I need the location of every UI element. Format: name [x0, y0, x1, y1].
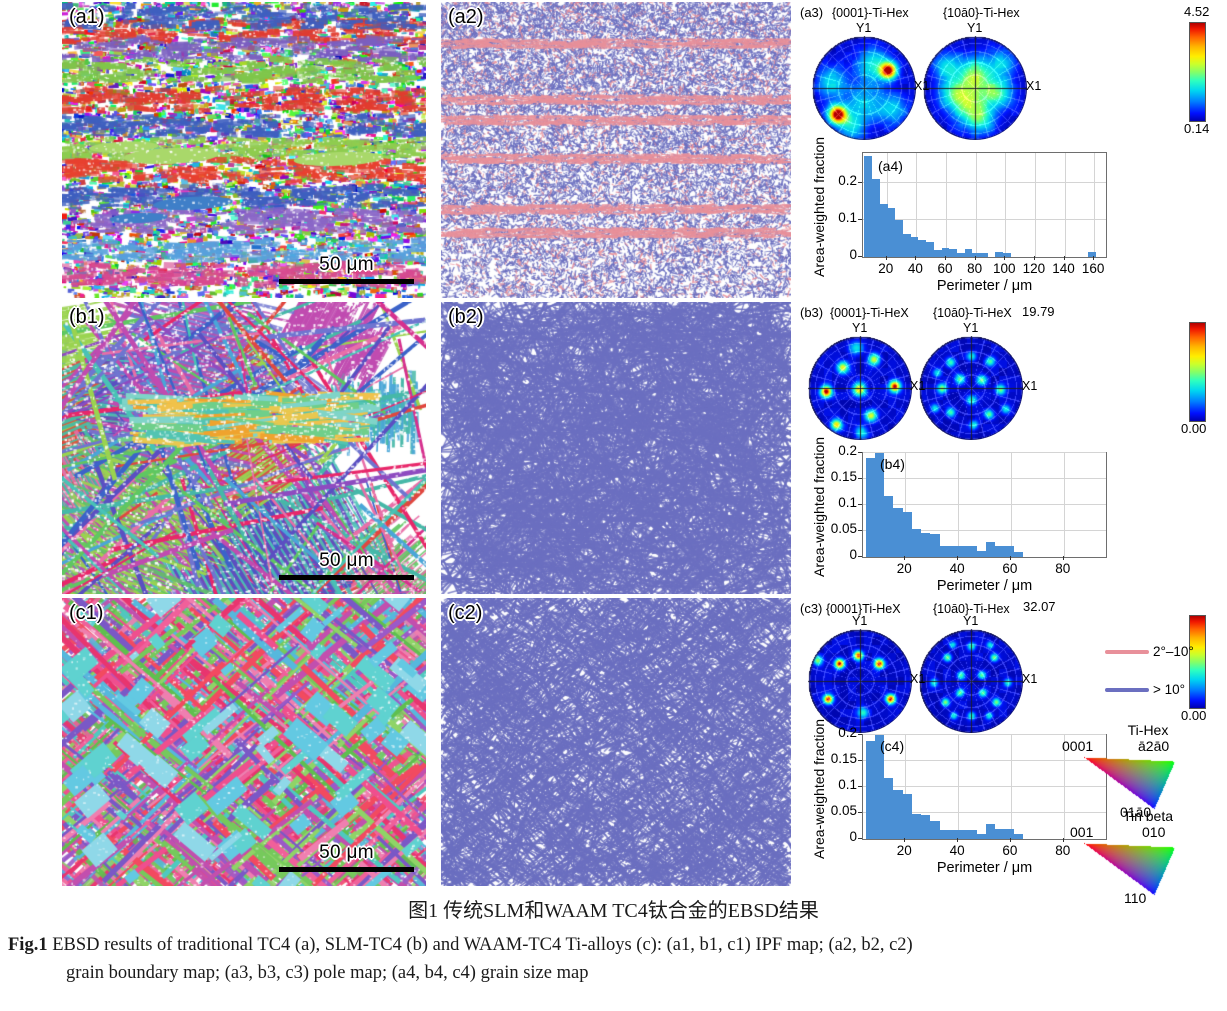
ipf-legend-title-tin-beta: Tin beta — [1068, 808, 1227, 824]
histogram-bar — [880, 204, 888, 257]
pole-title-b3-right: {10ā0}-Ti-HeX — [933, 306, 1012, 320]
y-axis-tick-label: 0.05 — [831, 521, 857, 536]
x-axis-tick-label: 20 — [888, 843, 920, 858]
colorbar-b3 — [1189, 322, 1206, 422]
pole-x-label-c3-right: X1 — [1022, 672, 1037, 686]
x-axis-tick-label: 20 — [870, 261, 902, 276]
scalebar-c1: 50 μm — [279, 842, 414, 872]
scalebar-a1: 50 μm — [279, 254, 414, 284]
gridline-vertical — [1094, 153, 1095, 257]
histogram-bar — [884, 778, 893, 839]
gridline-vertical — [946, 153, 947, 257]
histogram-bar — [903, 234, 911, 257]
hist-a4-id: (a4) — [878, 158, 903, 174]
gridline-vertical — [1065, 153, 1066, 257]
y-axis-tick-label: 0.15 — [831, 469, 857, 484]
gridline-vertical — [976, 153, 977, 257]
histogram-bar — [972, 253, 980, 257]
pole-figure-c3-0001 — [808, 629, 912, 733]
pole-figure-block-b3: (b3) {0001}-Ti-HeX {10ā0}-Ti-HeX Y1 Y1 X… — [800, 302, 1227, 442]
histogram-bar — [888, 208, 896, 257]
x-axis-tick-mark — [1004, 256, 1005, 260]
pole-figure-a3-1010 — [923, 36, 1027, 140]
pole-x-label-a3-left: X1 — [914, 79, 929, 93]
y-axis-tick-label: 0.2 — [838, 725, 857, 740]
pole-y-label-a3-left: Y1 — [856, 21, 871, 35]
panel-label-b1: (b1) — [69, 306, 105, 329]
scalebar-b1: 50 μm — [279, 550, 414, 580]
x-axis-tick-mark — [1093, 256, 1094, 260]
figure-canvas: (a1) 50 μm (a2) (a3) {0001}-Ti-Hex {10ā0… — [0, 0, 1227, 888]
x-axis-tick-label: 40 — [941, 843, 973, 858]
x-axis-tick-mark — [957, 838, 958, 842]
histogram-bar — [903, 794, 912, 839]
histogram-bar — [921, 533, 930, 557]
panel-label-c3: (c3) — [800, 601, 822, 616]
scalebar-line-c1 — [279, 867, 414, 872]
y-axis-tick-mark — [858, 478, 862, 479]
histogram-bar — [957, 253, 965, 257]
pole-figure-c3-1010 — [919, 629, 1023, 733]
y-axis-tick-label: 0.05 — [831, 803, 857, 818]
x-axis-tick-mark — [904, 838, 905, 842]
hist-c4-id: (c4) — [880, 738, 904, 754]
legend-item-low-angle: 2°–10° — [1105, 644, 1194, 659]
y-axis-tick-label: 0.2 — [838, 173, 857, 188]
panel-label-a2: (a2) — [448, 6, 484, 29]
histogram-bar — [958, 830, 967, 839]
y-axis-tick-mark — [858, 734, 862, 735]
histogram-bar — [930, 821, 939, 839]
gridline-vertical — [1011, 735, 1012, 839]
y-axis-tick-label: 0.1 — [838, 495, 857, 510]
pole-x-label-b3-right: X1 — [1022, 379, 1037, 393]
colorbar-min-b3: 0.00 — [1181, 421, 1206, 436]
grain-boundary-map-b2: (b2) — [441, 302, 791, 594]
panel-label-b2: (b2) — [448, 306, 484, 329]
x-axis-tick-mark — [957, 556, 958, 560]
histogram-bar — [866, 458, 875, 557]
legend-line-high-angle — [1105, 688, 1149, 692]
pole-title-a3-right: {10ā0}-Ti-Hex — [943, 6, 1020, 20]
grain-size-histogram-a4: Area-weighted fraction (a4) Perimeter / … — [800, 146, 1227, 298]
x-axis-tick-mark — [1034, 256, 1035, 260]
x-axis-tick-mark — [975, 256, 976, 260]
pole-x-label-b3-left: X1 — [910, 379, 925, 393]
y-axis-tick-label: 0.15 — [831, 751, 857, 766]
caption-english: Fig.1 EBSD results of traditional TC4 (a… — [0, 932, 1227, 988]
hist-b4-xlabel: Perimeter / μm — [862, 578, 1107, 594]
panel-label-a3: (a3) — [800, 5, 823, 20]
x-axis-tick-mark — [904, 556, 905, 560]
x-axis-tick-label: 60 — [929, 261, 961, 276]
panel-label-b3: (b3) — [800, 305, 823, 320]
y-axis-tick-mark — [858, 452, 862, 453]
histogram-bar — [872, 179, 880, 257]
legend-label-low-angle: 2°–10° — [1153, 644, 1194, 659]
ipf-triangle-canvas-ti-hex — [1084, 756, 1180, 810]
pole-figure-b3-0001 — [808, 336, 912, 440]
histogram-bar — [940, 830, 949, 839]
y-axis-tick-mark — [858, 812, 862, 813]
y-axis-tick-label: 0 — [849, 547, 857, 562]
histogram-bar — [864, 156, 872, 257]
histogram-bar — [884, 496, 893, 557]
x-axis-tick-label: 80 — [1047, 561, 1079, 576]
caption-line-2: grain boundary map; (a3, b3, c3) pole ma… — [8, 960, 1219, 988]
histogram-bar — [934, 250, 942, 257]
colorbar-max-c3: 32.07 — [1023, 599, 1056, 614]
scalebar-line-b1 — [279, 575, 414, 580]
x-axis-tick-label: 60 — [994, 843, 1026, 858]
caption-chinese: 图1 传统SLM和WAAM TC4钛合金的EBSD结果 — [0, 894, 1227, 923]
scalebar-label-b1: 50 μm — [279, 550, 414, 572]
y-axis-tick-mark — [858, 530, 862, 531]
colorbar-min-a3: 0.14 — [1184, 121, 1209, 136]
histogram-bar — [903, 512, 912, 557]
x-axis-tick-mark — [945, 256, 946, 260]
x-axis-tick-mark — [1010, 838, 1011, 842]
ipf-corner-1210: ā2ā0 — [1138, 738, 1169, 754]
y-axis-tick-label: 0.1 — [838, 210, 857, 225]
histogram-bar — [965, 249, 973, 257]
pole-y-label-b3-left: Y1 — [852, 321, 867, 335]
y-axis-tick-label: 0.1 — [838, 777, 857, 792]
histogram-bar — [995, 546, 1004, 557]
grain-size-histogram-b4: Area-weighted fraction (b4) Perimeter / … — [800, 446, 1227, 596]
histogram-bar — [866, 741, 875, 839]
histogram-bar — [1014, 834, 1023, 839]
x-axis-tick-label: 60 — [994, 561, 1026, 576]
colorbar-max-b3: 19.79 — [1022, 304, 1055, 319]
pole-figure-a3-0001 — [812, 36, 916, 140]
ipf-map-a1: (a1) 50 μm — [62, 2, 426, 298]
histogram-bar — [895, 220, 903, 257]
ipf-corner-010: 010 — [1142, 824, 1165, 840]
histogram-bar — [926, 242, 934, 257]
pole-x-label-a3-right: X1 — [1026, 79, 1041, 93]
panel-label-a1: (a1) — [69, 6, 105, 29]
pole-y-label-b3-right: Y1 — [963, 321, 978, 335]
y-axis-tick-mark — [858, 256, 862, 257]
x-axis-tick-label: 100 — [988, 261, 1020, 276]
histogram-bar — [911, 237, 919, 257]
hist-a4-ylabel: Area-weighted fraction — [811, 137, 827, 277]
gridline-horizontal — [863, 478, 1106, 479]
grain-boundary-map-a2: (a2) — [441, 2, 791, 298]
y-axis-tick-mark — [858, 786, 862, 787]
y-axis-tick-mark — [858, 504, 862, 505]
x-axis-tick-label: 20 — [888, 561, 920, 576]
histogram-bar — [977, 834, 986, 839]
histogram-bar — [1088, 252, 1096, 257]
gridline-vertical — [1005, 153, 1006, 257]
x-axis-tick-mark — [886, 256, 887, 260]
y-axis-tick-mark — [858, 838, 862, 839]
histogram-bar — [967, 830, 976, 839]
ipf-map-b1: (b1) 50 μm — [62, 302, 426, 594]
histogram-bar — [893, 508, 902, 557]
caption-line-1: EBSD results of traditional TC4 (a), SLM… — [52, 935, 913, 955]
histogram-bar — [986, 542, 995, 557]
x-axis-tick-mark — [1064, 256, 1065, 260]
ipf-legend-title-ti-hex: Ti-Hex — [1068, 722, 1227, 738]
pole-x-label-c3-left: X1 — [910, 672, 925, 686]
y-axis-tick-label: 0 — [849, 247, 857, 262]
histogram-bar — [967, 546, 976, 557]
legend-line-low-angle — [1105, 650, 1149, 654]
pole-y-label-c3-right: Y1 — [963, 614, 978, 628]
ipf-corner-001: 001 — [1070, 824, 1093, 840]
x-axis-tick-mark — [1063, 556, 1064, 560]
grain-boundary-map-c2: (c2) — [441, 598, 791, 886]
colorbar-max-a3: 4.52 — [1184, 4, 1209, 19]
pole-title-b3-left: {0001}-Ti-HeX — [830, 306, 909, 320]
x-axis-tick-label: 80 — [959, 261, 991, 276]
histogram-bar — [940, 546, 949, 557]
x-axis-tick-label: 40 — [899, 261, 931, 276]
histogram-bar — [912, 529, 921, 557]
x-axis-tick-mark — [1063, 838, 1064, 842]
ipf-corner-0001: 0001 — [1062, 738, 1093, 754]
gridline-vertical — [1035, 153, 1036, 257]
x-axis-tick-mark — [915, 256, 916, 260]
gridline-horizontal — [863, 182, 1106, 183]
histogram-bar — [1004, 829, 1013, 839]
gridline-vertical — [958, 453, 959, 557]
hist-c4-ylabel: Area-weighted fraction — [811, 719, 827, 859]
pole-figure-b3-1010 — [919, 336, 1023, 440]
gridline-horizontal — [863, 504, 1106, 505]
histogram-bar — [1014, 552, 1023, 557]
ipf-map-c1: (c1) 50 μm — [62, 598, 426, 886]
grain-size-histogram-c4: Area-weighted fraction (c4) Perimeter / … — [800, 728, 1100, 880]
caption-fig-number: Fig.1 — [8, 935, 48, 955]
histogram-bar — [1004, 546, 1013, 557]
histogram-bar — [995, 829, 1004, 839]
gridline-vertical — [1011, 453, 1012, 557]
y-axis-tick-mark — [858, 760, 862, 761]
histogram-bar — [980, 253, 988, 257]
panel-label-c1: (c1) — [69, 602, 103, 625]
histogram-bar — [958, 546, 967, 557]
hist-b4-ylabel: Area-weighted fraction — [811, 437, 827, 577]
colorbar-a3 — [1189, 22, 1206, 122]
boundary-misorientation-legend: 2°–10° > 10° — [1105, 640, 1227, 720]
legend-label-high-angle: > 10° — [1153, 682, 1185, 697]
gridline-vertical — [1064, 453, 1065, 557]
x-axis-tick-label: 40 — [941, 561, 973, 576]
scalebar-label-a1: 50 μm — [279, 254, 414, 276]
gridline-vertical — [958, 735, 959, 839]
y-axis-tick-mark — [858, 556, 862, 557]
pole-y-label-a3-right: Y1 — [967, 21, 982, 35]
histogram-bar — [986, 824, 995, 839]
histogram-bar — [995, 252, 1003, 257]
scalebar-line-a1 — [279, 279, 414, 284]
legend-item-high-angle: > 10° — [1105, 682, 1185, 697]
hist-a4-xlabel: Perimeter / μm — [862, 278, 1107, 294]
y-axis-tick-mark — [858, 182, 862, 183]
histogram-bar — [921, 815, 930, 839]
x-axis-tick-mark — [1010, 556, 1011, 560]
histogram-bar — [949, 249, 957, 257]
y-axis-tick-label: 0 — [849, 829, 857, 844]
y-axis-tick-mark — [858, 219, 862, 220]
scalebar-label-c1: 50 μm — [279, 842, 414, 864]
pole-title-a3-left: {0001}-Ti-Hex — [832, 6, 909, 20]
figure-caption: 图1 传统SLM和WAAM TC4钛合金的EBSD结果 Fig.1 EBSD r… — [0, 888, 1227, 988]
histogram-bar — [893, 790, 902, 839]
y-axis-tick-label: 0.2 — [838, 443, 857, 458]
histogram-bar — [977, 551, 986, 557]
panel-label-c2: (c2) — [448, 602, 482, 625]
hist-b4-id: (b4) — [880, 456, 905, 472]
histogram-bar — [912, 814, 921, 839]
x-axis-tick-label: 160 — [1077, 261, 1109, 276]
x-axis-tick-label: 140 — [1048, 261, 1080, 276]
pole-y-label-c3-left: Y1 — [852, 614, 867, 628]
histogram-bar — [930, 534, 939, 557]
pole-figure-block-a3: (a3) {0001}-Ti-Hex {10ā0}-Ti-Hex Y1 Y1 X… — [800, 2, 1227, 142]
x-axis-tick-label: 120 — [1018, 261, 1050, 276]
gridline-horizontal — [863, 452, 1106, 453]
histogram-bar — [918, 240, 926, 257]
